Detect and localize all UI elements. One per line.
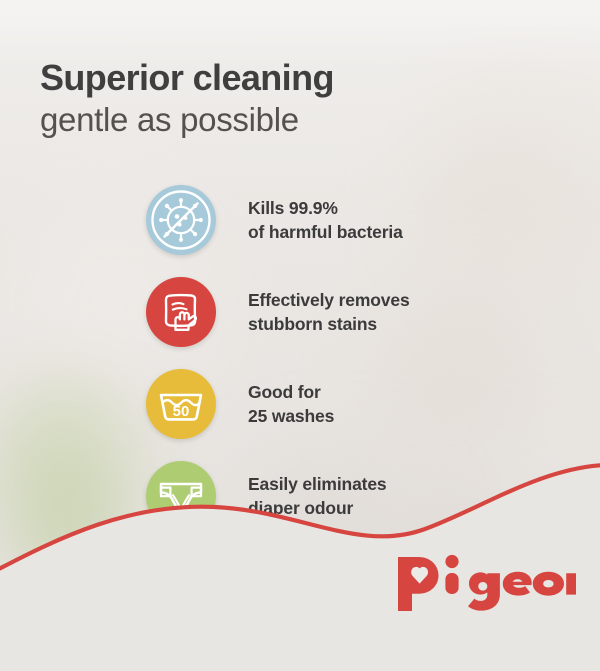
badge-bacteria bbox=[146, 185, 216, 255]
pigeon-i-dot bbox=[445, 555, 458, 568]
poster: Superior cleaning gentle as possible bbox=[0, 0, 600, 671]
feature-line-2: of harmful bacteria bbox=[248, 220, 403, 244]
headline-secondary: gentle as possible bbox=[40, 100, 460, 140]
feature-text-washes: Good for 25 washes bbox=[248, 380, 334, 428]
brand-logo bbox=[396, 551, 576, 613]
badge-stains bbox=[146, 277, 216, 347]
pigeon-i-stem bbox=[445, 573, 458, 594]
hand-wiping-cloth-icon bbox=[146, 277, 216, 347]
wash-tub-icon: 50 bbox=[146, 369, 216, 439]
pigeon-wordmark bbox=[396, 551, 576, 613]
badge-washes: 50 bbox=[146, 369, 216, 439]
pigeon-g-letter bbox=[468, 572, 500, 610]
feature-text-stains: Effectively removes stubborn stains bbox=[248, 288, 410, 336]
background-top-band bbox=[0, 0, 600, 26]
pigeon-e-letter bbox=[503, 572, 532, 596]
feature-item-stains: Effectively removes stubborn stains bbox=[146, 266, 576, 358]
feature-item-washes: 50 Good for 25 washes bbox=[146, 358, 576, 450]
feature-item-bacteria: Kills 99.9% of harmful bacteria bbox=[146, 174, 576, 266]
virus-blocked-icon bbox=[146, 185, 216, 255]
feature-text-bacteria: Kills 99.9% of harmful bacteria bbox=[248, 196, 403, 244]
feature-line-1: Effectively removes bbox=[248, 288, 410, 312]
wash-temperature-value: 50 bbox=[173, 403, 190, 420]
pigeon-n-letter bbox=[566, 573, 576, 595]
headline: Superior cleaning gentle as possible bbox=[40, 58, 460, 140]
pigeon-o-letter bbox=[533, 572, 564, 596]
feature-line-2: stubborn stains bbox=[248, 312, 410, 336]
feature-line-1: Kills 99.9% bbox=[248, 196, 403, 220]
headline-primary: Superior cleaning bbox=[40, 58, 460, 98]
feature-line-2: 25 washes bbox=[248, 404, 334, 428]
feature-line-1: Good for bbox=[248, 380, 334, 404]
pigeon-p-letter bbox=[398, 557, 439, 611]
